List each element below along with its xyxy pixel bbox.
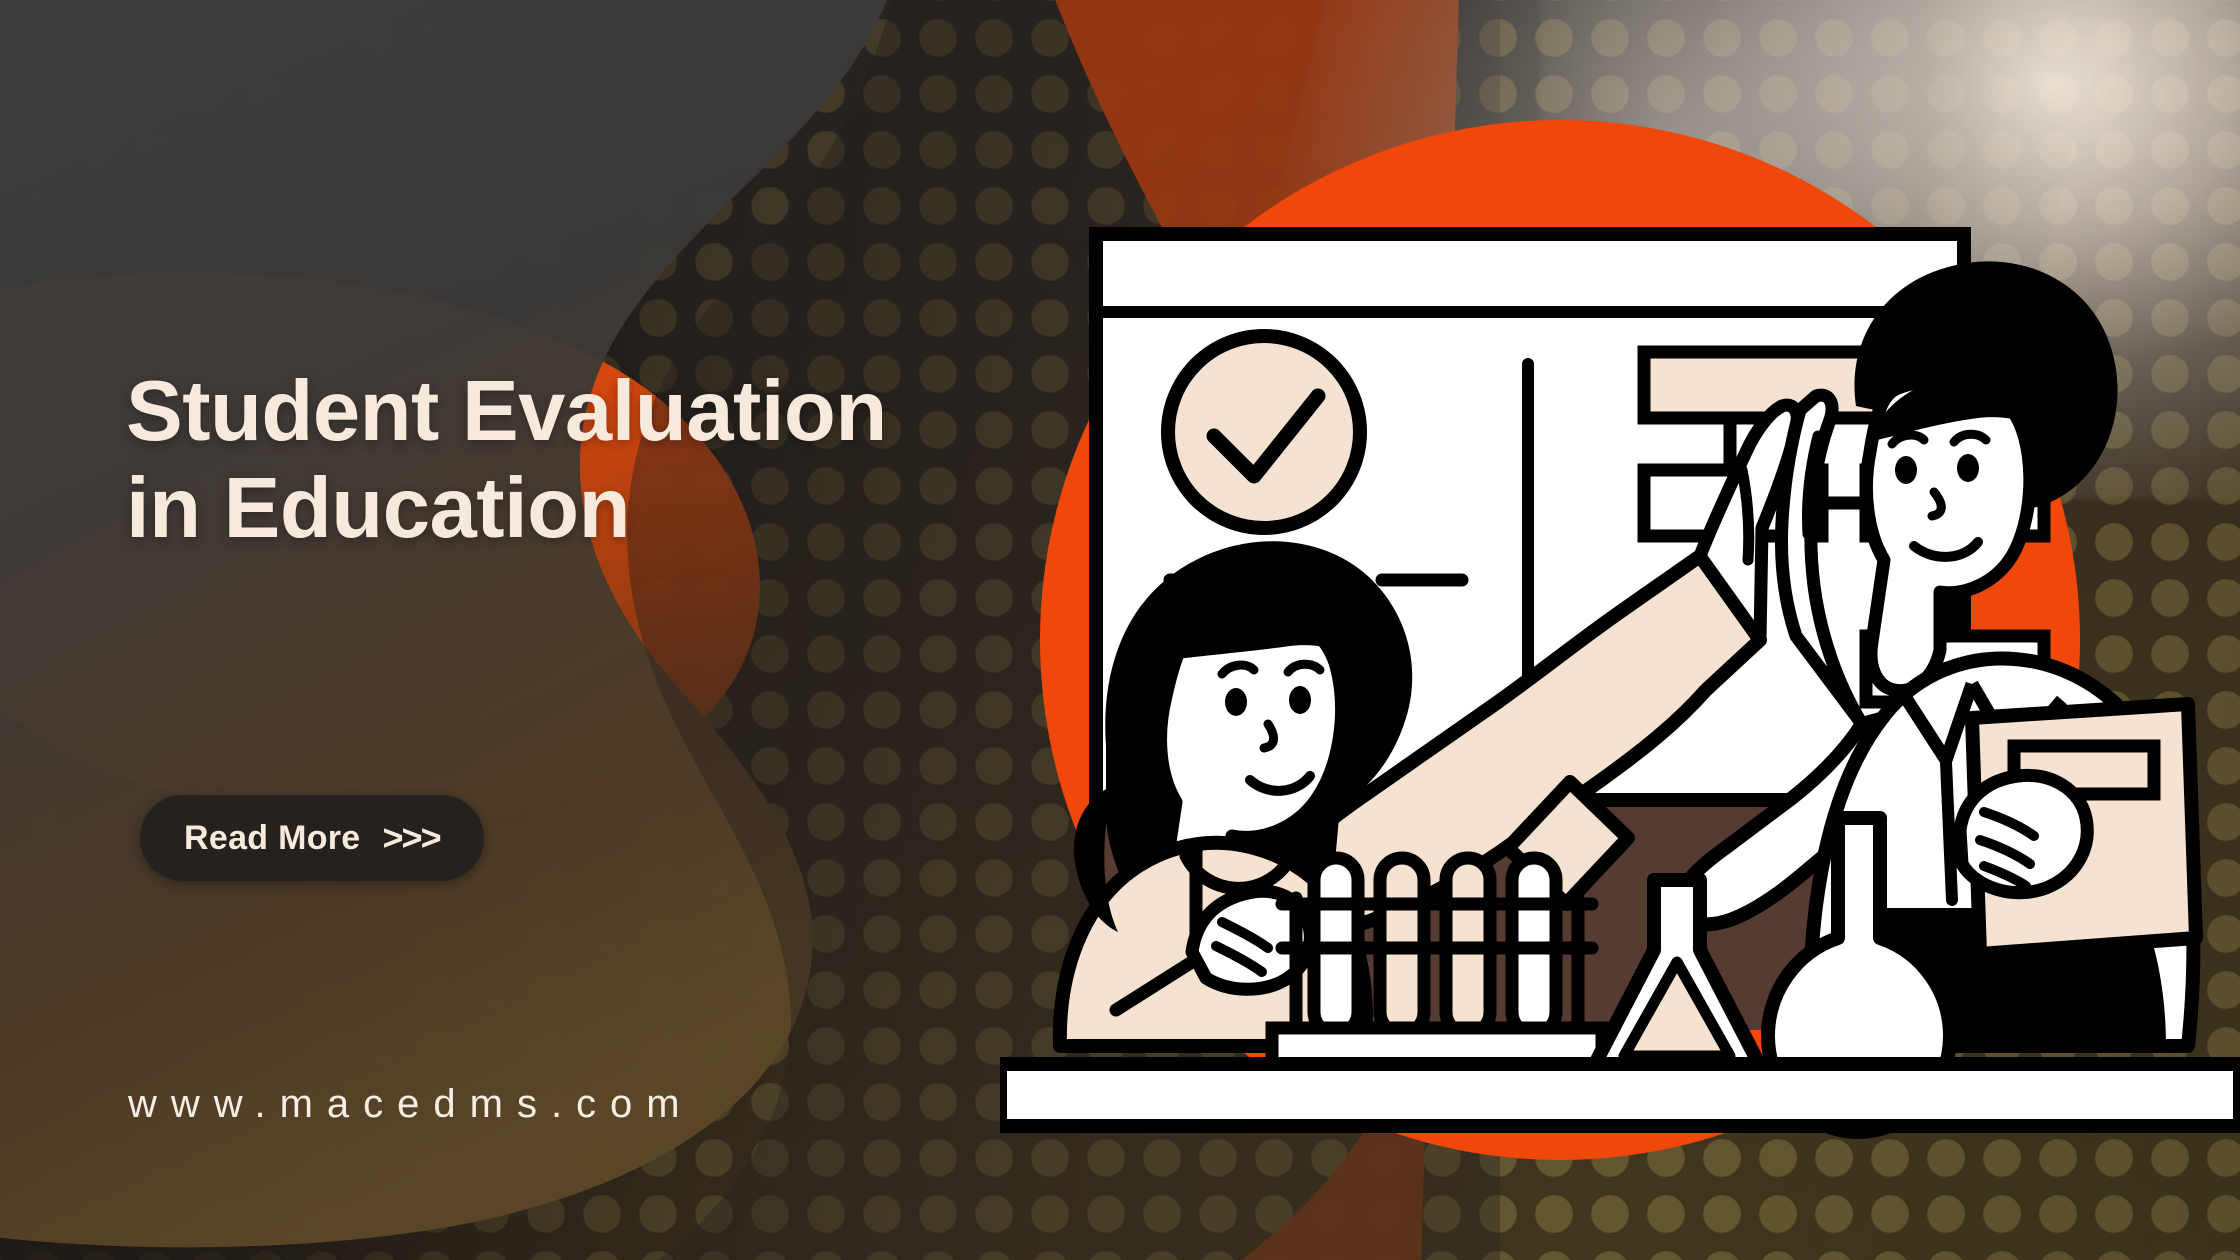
text-column: Student Evaluation in Education Read Mor… <box>0 0 1240 1260</box>
banner-canvas: Student Evaluation in Education Read Mor… <box>0 0 2240 1260</box>
website-url: www.macedms.com <box>128 1082 694 1127</box>
eye-left <box>1895 456 1917 484</box>
read-more-label: Read More <box>184 819 361 858</box>
eye-right <box>1289 686 1311 714</box>
chevron-right-icon: >>> <box>383 817 440 859</box>
eye-right <box>1957 454 1979 482</box>
read-more-button[interactable]: Read More >>> <box>140 795 484 881</box>
male-hand-holding-clipboard <box>1960 775 2087 892</box>
page-title: Student Evaluation in Education <box>126 364 1206 558</box>
